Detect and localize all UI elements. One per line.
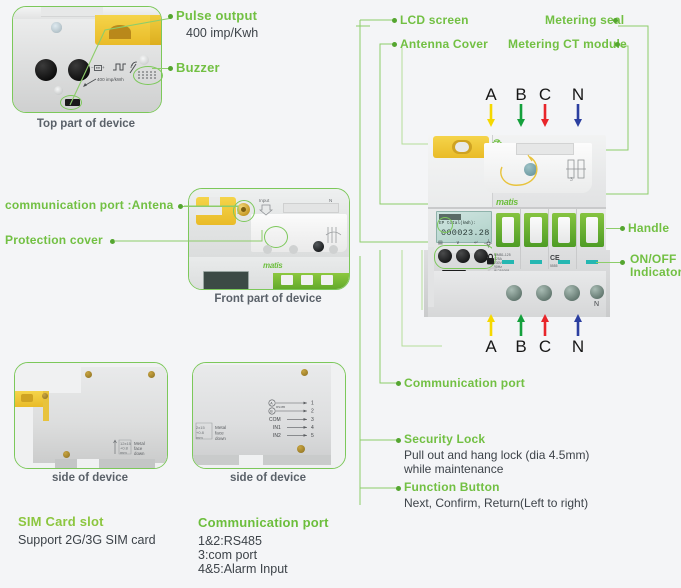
ct-coil-icon: 3 — [564, 157, 590, 183]
label-security-lock: Security Lock — [404, 433, 485, 446]
svg-text:1: 1 — [311, 401, 314, 407]
leader-pulse-output — [60, 8, 175, 106]
svg-text:4: 4 — [311, 425, 314, 431]
svg-text:mm: mm — [196, 435, 203, 440]
phase-arrows-top — [480, 104, 590, 128]
phase-bottom-label-C: C — [537, 337, 553, 357]
terminal-3 — [564, 285, 580, 301]
svg-text:3: 3 — [311, 417, 314, 423]
svg-text:IN1: IN1 — [273, 425, 281, 431]
leader-dot-lcd-screen — [392, 18, 397, 23]
leader-dot-metering-seal — [613, 18, 618, 23]
svg-text:face: face — [215, 431, 224, 436]
label-onoff-indicator-line2: Indicator — [630, 266, 681, 279]
label-security-lock-detail-1: Pull out and hang lock (dia 4.5mm) — [404, 448, 589, 462]
svg-text:2: 2 — [311, 409, 314, 415]
phase-top-label-A: A — [483, 85, 499, 105]
label-communication-port-bottom: Communication port — [198, 516, 329, 529]
svg-text:down: down — [134, 451, 145, 456]
terminal-4 — [590, 285, 604, 299]
brand-matis-front: matis — [263, 261, 282, 270]
leader-dot-pulse-output — [168, 14, 173, 19]
sim-orientation-marking: 12x15 +0.8 mm Metal face down — [113, 437, 155, 457]
svg-text:down: down — [215, 436, 226, 441]
comm-orientation-marking: 2x15 +0.8 mm Metal face down — [194, 421, 240, 443]
caption-comm-side: side of device — [192, 472, 344, 484]
label-antenna-cover: Antenna Cover — [400, 38, 488, 51]
leader-protection-cover — [112, 225, 267, 247]
label-protection-cover: Protection cover — [5, 234, 103, 247]
leader-dot-buzzer — [168, 66, 173, 71]
svg-text:COM: COM — [269, 417, 281, 423]
leader-dot-function-button — [396, 486, 401, 491]
ce-extra: 5555 — [550, 264, 558, 268]
label-comm-detail-2: 3:com port — [198, 548, 257, 562]
label-pulse-output-detail: 400 imp/Kwh — [186, 26, 258, 40]
terminal-2 — [536, 285, 552, 301]
phase-top-label-B: B — [513, 85, 529, 105]
diagram-root: −●●+ 400 imp/kWh — [0, 0, 681, 588]
phase-arrows-bottom — [480, 313, 590, 337]
svg-text:Metal: Metal — [215, 425, 226, 430]
leader-dot-security-lock — [396, 438, 401, 443]
panel-sim-side-photo: 12x15 +0.8 mm Metal face down — [14, 362, 168, 469]
lcd-highlight — [437, 217, 453, 233]
onoff-indicator-3 — [558, 260, 570, 264]
label-handle: Handle — [628, 222, 669, 235]
label-sim-card-slot-detail: Support 2G/3G SIM card — [18, 533, 156, 547]
svg-text:IN2: IN2 — [273, 433, 281, 439]
svg-text:A: A — [270, 402, 273, 406]
label-metering-ct-module: Metering CT module — [508, 38, 627, 51]
label-communication-port-main: Communication port — [404, 377, 525, 390]
label-buzzer: Buzzer — [176, 61, 220, 74]
phase-top-label-N: N — [570, 85, 586, 105]
caption-sim-side: side of device — [14, 472, 166, 484]
terminal-n-label: N — [594, 301, 599, 308]
svg-text:RS485: RS485 — [276, 405, 286, 409]
label-sim-card-slot: SIM Card slot — [18, 515, 104, 528]
label-comm-detail-3: 4&5:Alarm Input — [198, 562, 288, 576]
svg-text:5: 5 — [311, 433, 314, 439]
svg-text:mm: mm — [120, 450, 127, 455]
label-communication-port-antenna: communication port :Antena — [5, 199, 174, 212]
onoff-indicator-2 — [530, 260, 542, 264]
phase-bottom-label-B: B — [513, 337, 529, 357]
leader-dot-onoff — [620, 260, 625, 265]
leader-dot-communication-port — [396, 381, 401, 386]
label-security-lock-detail-2: while maintenance — [404, 462, 503, 476]
leader-dot-handle — [620, 226, 625, 231]
seal-wire-icon — [494, 153, 554, 191]
leader-dot-metering-ct — [615, 42, 620, 47]
phase-top-label-C: C — [537, 85, 553, 105]
comm-pin-map: A B RS485 1 2 COM 3 IN1 4 IN2 — [267, 399, 329, 439]
leader-comm-antenna-angle — [180, 200, 242, 216]
label-function-button-detail: Next, Confirm, Return(Left to right) — [404, 496, 588, 510]
leader-dot-antenna-cover — [392, 42, 397, 47]
phase-bottom-label-N: N — [570, 337, 586, 357]
label-comm-detail-1: 1&2:RS485 — [198, 534, 262, 548]
panel-comm-side-photo: A B RS485 1 2 COM 3 IN1 4 IN2 — [192, 362, 346, 469]
svg-text:B: B — [270, 410, 273, 414]
caption-top-part: Top part of device — [12, 118, 160, 130]
brand-matis-top: matis — [496, 197, 518, 207]
label-function-button: Function Button — [404, 481, 500, 494]
svg-text:3: 3 — [570, 177, 573, 183]
label-pulse-output: Pulse output — [176, 9, 257, 22]
caption-front-part: Front part of device — [188, 293, 348, 305]
wiring-icon — [325, 225, 343, 247]
label-lcd-screen: LCD screen — [400, 14, 469, 27]
input-arrow-icon — [259, 204, 273, 216]
terminal-1 — [506, 285, 522, 301]
leader-onoff — [596, 262, 622, 263]
